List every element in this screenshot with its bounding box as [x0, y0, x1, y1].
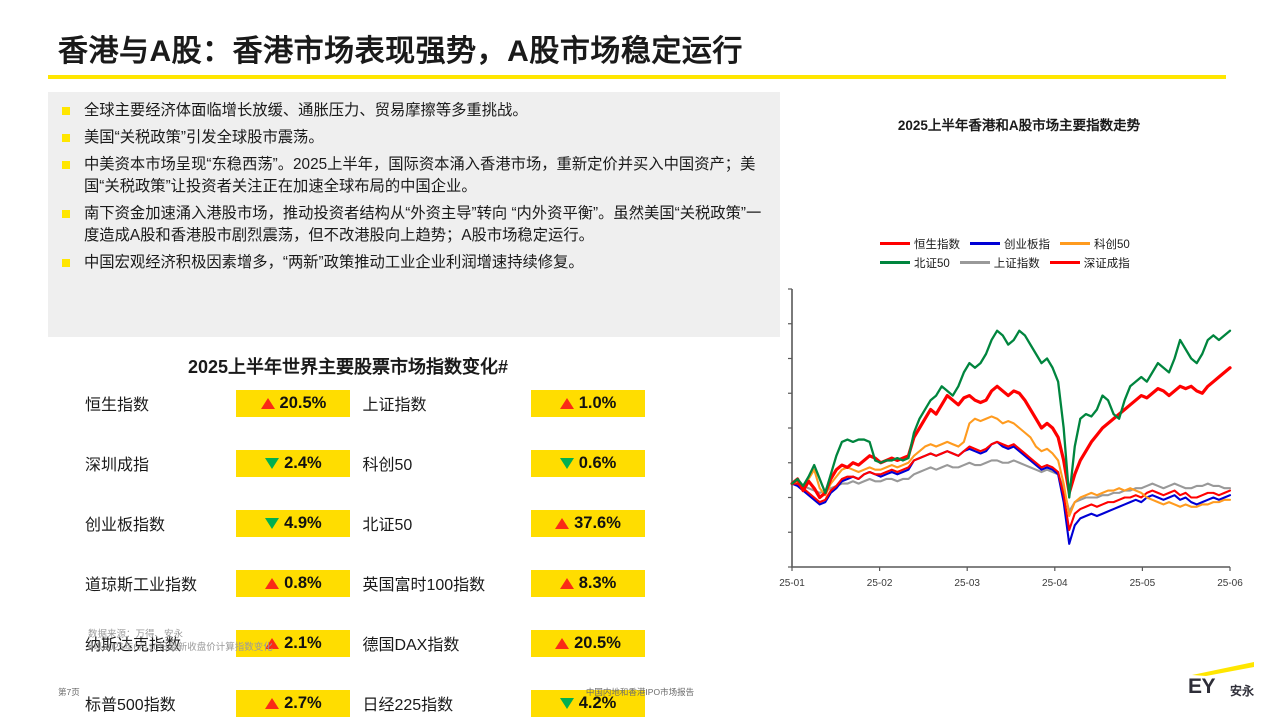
arrow-up-icon — [265, 578, 279, 589]
bullet-square-icon — [62, 161, 70, 169]
bullet-square-icon — [62, 210, 70, 218]
arrow-up-icon — [261, 398, 275, 409]
index-change-table: 恒生指数20.5%上证指数1.0%深圳成指2.4%科创500.6%创业板指数4.… — [85, 388, 645, 718]
bullet-list: 全球主要经济体面临增长放缓、通胀压力、贸易摩擦等多重挑战。美国“关税政策”引发全… — [62, 100, 768, 279]
index-value-cell: 2.4% — [236, 448, 350, 478]
legend-label: 恒生指数 — [914, 236, 960, 252]
ey-wordmark: EY — [1188, 675, 1215, 699]
index-value-badge: 0.6% — [531, 450, 645, 477]
arrow-down-icon — [265, 458, 279, 469]
index-value-cell: 37.6% — [531, 508, 645, 538]
chart-series-line — [792, 442, 1230, 544]
legend-color-swatch — [880, 242, 910, 245]
index-value-badge: 1.0% — [531, 390, 645, 417]
row-spacer — [85, 598, 645, 628]
bullet-square-icon — [62, 134, 70, 142]
index-value-cell: 4.9% — [236, 508, 350, 538]
footnote-source: 数据来源：万得、安永 — [88, 628, 273, 641]
row-spacer — [85, 658, 645, 688]
legend-row: 北证50上证指数深证成指 — [880, 253, 1260, 272]
arrow-up-icon — [560, 398, 574, 409]
index-value-text: 2.4% — [284, 454, 322, 473]
ey-logo: EY 安永 — [1186, 662, 1272, 706]
chart-svg — [784, 285, 1254, 575]
arrow-up-icon — [555, 518, 569, 529]
x-axis-label: 25-02 — [867, 578, 893, 589]
bullet-item: 美国“关税政策”引发全球股市震荡。 — [62, 127, 768, 149]
legend-item[interactable]: 创业板指 — [970, 236, 1050, 252]
bullet-text: 美国“关税政策”引发全球股市震荡。 — [84, 127, 768, 149]
ey-chinese-name: 安永 — [1230, 682, 1254, 699]
index-table-heading: 2025上半年世界主要股票市场指数变化# — [48, 353, 648, 379]
legend-item[interactable]: 上证指数 — [960, 255, 1040, 271]
legend-color-swatch — [1050, 261, 1080, 264]
index-value-badge: 0.8% — [236, 570, 350, 597]
index-value-cell: 8.3% — [531, 568, 645, 598]
index-value-text: 4.9% — [284, 514, 322, 533]
index-value-cell: 20.5% — [531, 628, 645, 658]
arrow-down-icon — [560, 458, 574, 469]
index-name: 创业板指数 — [85, 508, 236, 538]
legend-color-swatch — [1060, 242, 1090, 245]
chart-legend: 恒生指数创业板指科创50北证50上证指数深证成指 — [880, 234, 1260, 272]
row-spacer — [85, 478, 645, 508]
index-value-cell: 20.5% — [236, 388, 350, 418]
footnotes: 数据来源：万得、安永 #以2025年6月10日最新收盘价计算指数变化 — [88, 628, 273, 654]
table-row: 道琼斯工业指数0.8%英国富时100指数8.3% — [85, 568, 645, 598]
legend-item[interactable]: 北证50 — [880, 255, 950, 271]
chart-x-axis-labels: 25-0125-0225-0325-0425-0525-06 — [784, 578, 1254, 594]
legend-label: 上证指数 — [994, 255, 1040, 271]
x-axis-label: 25-06 — [1217, 578, 1243, 589]
footer-report-title: 中国内地和香港IPO市场报告 — [0, 686, 1280, 698]
bullet-item: 南下资金加速涌入港股市场，推动投资者结构从“外资主导”转向 “内外资平衡”。虽然… — [62, 203, 768, 247]
index-value-cell: 0.8% — [236, 568, 350, 598]
arrow-up-icon — [555, 638, 569, 649]
legend-item[interactable]: 恒生指数 — [880, 236, 960, 252]
legend-item[interactable]: 科创50 — [1060, 236, 1130, 252]
arrow-down-icon — [560, 698, 574, 709]
x-axis-label: 25-03 — [954, 578, 980, 589]
bullet-text: 中美资本市场呈现“东稳西荡”。2025上半年，国际资本涌入香港市场，重新定价并买… — [84, 154, 768, 198]
footnote-note: #以2025年6月10日最新收盘价计算指数变化 — [88, 641, 273, 654]
index-name: 道琼斯工业指数 — [85, 568, 236, 598]
x-axis-label: 25-05 — [1130, 578, 1156, 589]
page-title: 香港与A股：香港市场表现强势，A股市场稳定运行 — [58, 26, 743, 70]
index-name: 上证指数 — [350, 388, 531, 418]
ey-swoosh-icon — [1192, 662, 1254, 676]
chart-plot-area — [784, 285, 1254, 575]
index-name: 深圳成指 — [85, 448, 236, 478]
chart-title: 2025上半年香港和A股市场主要指数走势 — [784, 114, 1254, 134]
legend-label: 深证成指 — [1084, 255, 1130, 271]
index-name: 英国富时100指数 — [350, 568, 531, 598]
legend-label: 北证50 — [914, 255, 950, 271]
title-underline-rule — [48, 75, 1226, 79]
index-value-badge: 37.6% — [531, 510, 645, 537]
arrow-up-icon — [265, 698, 279, 709]
legend-label: 科创50 — [1094, 236, 1130, 252]
index-value-cell: 1.0% — [531, 388, 645, 418]
index-value-text: 2.1% — [284, 634, 322, 653]
summary-panel: 全球主要经济体面临增长放缓、通胀压力、贸易摩擦等多重挑战。美国“关税政策”引发全… — [48, 92, 780, 337]
index-name: 北证50 — [350, 508, 531, 538]
row-spacer — [85, 418, 645, 448]
legend-color-swatch — [880, 261, 910, 264]
bullet-item: 全球主要经济体面临增长放缓、通胀压力、贸易摩擦等多重挑战。 — [62, 100, 768, 122]
index-trend-chart: 2025上半年香港和A股市场主要指数走势 恒生指数创业板指科创50北证50上证指… — [784, 100, 1254, 600]
index-name: 科创50 — [350, 448, 531, 478]
index-value-badge: 20.5% — [236, 390, 350, 417]
index-value-badge: 20.5% — [531, 630, 645, 657]
chart-axis-lines — [792, 289, 1230, 567]
table-row: 恒生指数20.5%上证指数1.0% — [85, 388, 645, 418]
index-value-badge: 8.3% — [531, 570, 645, 597]
index-value-text: 1.0% — [579, 394, 617, 413]
index-value-badge: 2.4% — [236, 450, 350, 477]
index-value-cell: 0.6% — [531, 448, 645, 478]
index-value-text: 0.6% — [579, 454, 617, 473]
bullet-text: 南下资金加速涌入港股市场，推动投资者结构从“外资主导”转向 “内外资平衡”。虽然… — [84, 203, 768, 247]
bullet-square-icon — [62, 259, 70, 267]
table-row: 创业板指数4.9%北证5037.6% — [85, 508, 645, 538]
bullet-item: 中美资本市场呈现“东稳西荡”。2025上半年，国际资本涌入香港市场，重新定价并买… — [62, 154, 768, 198]
index-value-text: 8.3% — [579, 574, 617, 593]
index-name: 德国DAX指数 — [350, 628, 531, 658]
index-value-text: 0.8% — [284, 574, 322, 593]
index-value-text: 37.6% — [574, 514, 621, 533]
index-value-text: 20.5% — [574, 634, 621, 653]
bullet-text: 中国宏观经济积极因素增多，“两新”政策推动工业企业利润增速持续修复。 — [84, 252, 768, 274]
arrow-down-icon — [265, 518, 279, 529]
legend-color-swatch — [970, 242, 1000, 245]
table-row: 深圳成指2.4%科创500.6% — [85, 448, 645, 478]
index-name: 恒生指数 — [85, 388, 236, 418]
index-value-text: 20.5% — [280, 394, 327, 413]
bullet-item: 中国宏观经济积极因素增多，“两新”政策推动工业企业利润增速持续修复。 — [62, 252, 768, 274]
legend-row: 恒生指数创业板指科创50 — [880, 234, 1260, 253]
x-axis-label: 25-04 — [1042, 578, 1068, 589]
bullet-square-icon — [62, 107, 70, 115]
legend-label: 创业板指 — [1004, 236, 1050, 252]
row-spacer — [85, 538, 645, 568]
index-value-badge: 4.9% — [236, 510, 350, 537]
chart-series-line — [792, 442, 1230, 530]
legend-item[interactable]: 深证成指 — [1050, 255, 1130, 271]
bullet-text: 全球主要经济体面临增长放缓、通胀压力、贸易摩擦等多重挑战。 — [84, 100, 768, 122]
arrow-up-icon — [560, 578, 574, 589]
legend-color-swatch — [960, 261, 990, 264]
x-axis-label: 25-01 — [779, 578, 805, 589]
